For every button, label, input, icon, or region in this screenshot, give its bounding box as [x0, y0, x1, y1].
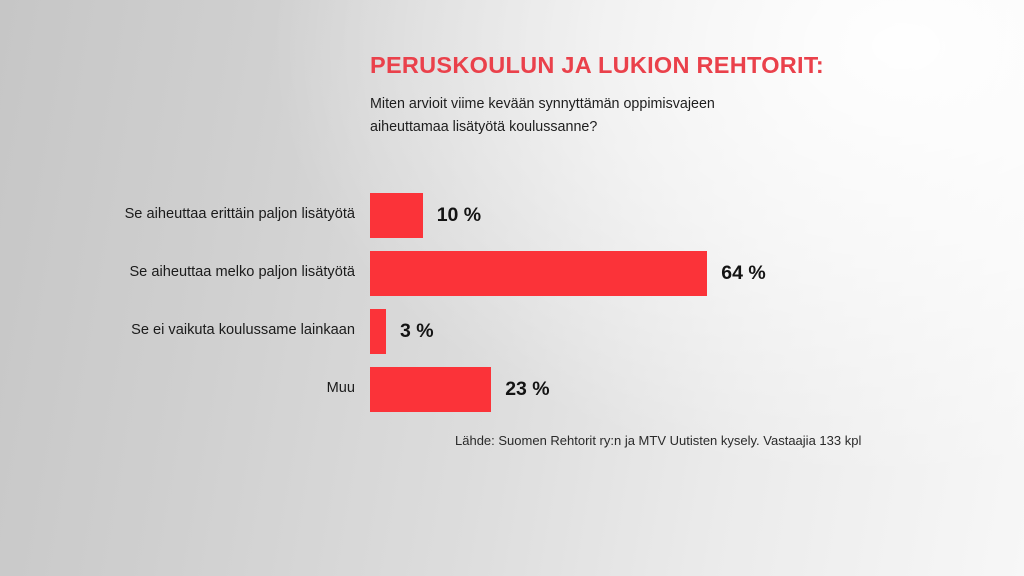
bar-row: Se aiheuttaa erittäin paljon lisätyötä 1… — [0, 186, 1024, 244]
infographic-poster: PERUSKOULUN JA LUKION REHTORIT: Miten ar… — [0, 0, 1024, 576]
bar-category-label: Se aiheuttaa melko paljon lisätyötä — [0, 264, 355, 282]
bar-value-label: 64 % — [721, 262, 765, 285]
chart-subtitle-line-1: Miten arvioit viime kevään synnyttämän o… — [370, 93, 840, 116]
bar-value-label: 23 % — [505, 378, 549, 401]
bar-track: 10 % — [370, 186, 1024, 244]
bar-row: Se aiheuttaa melko paljon lisätyötä 64 % — [0, 244, 1024, 302]
source-note: Lähde: Suomen Rehtorit ry:n ja MTV Uutis… — [455, 433, 861, 448]
bar-track: 23 % — [370, 360, 1024, 418]
bar-fill — [370, 367, 491, 412]
bar-fill — [370, 251, 707, 296]
bar-category-label: Se aiheuttaa erittäin paljon lisätyötä — [0, 206, 355, 224]
bar-row: Muu 23 % — [0, 360, 1024, 418]
bar-fill — [370, 193, 423, 238]
bar-value-label: 3 % — [400, 320, 434, 343]
bar-value-label: 10 % — [437, 204, 481, 227]
chart-subtitle-line-2: aiheuttamaa lisätyötä koulussanne? — [370, 116, 840, 139]
bar-category-label: Se ei vaikuta koulussame lainkaan — [0, 322, 355, 340]
bar-track: 64 % — [370, 244, 1024, 302]
bar-chart: Se aiheuttaa erittäin paljon lisätyötä 1… — [0, 186, 1024, 418]
chart-subtitle: Miten arvioit viime kevään synnyttämän o… — [370, 93, 840, 139]
bar-fill — [370, 309, 386, 354]
bar-row: Se ei vaikuta koulussame lainkaan 3 % — [0, 302, 1024, 360]
chart-header: PERUSKOULUN JA LUKION REHTORIT: Miten ar… — [370, 52, 990, 139]
page-title: PERUSKOULUN JA LUKION REHTORIT: — [370, 52, 990, 79]
bar-track: 3 % — [370, 302, 1024, 360]
bar-category-label: Muu — [0, 380, 355, 398]
